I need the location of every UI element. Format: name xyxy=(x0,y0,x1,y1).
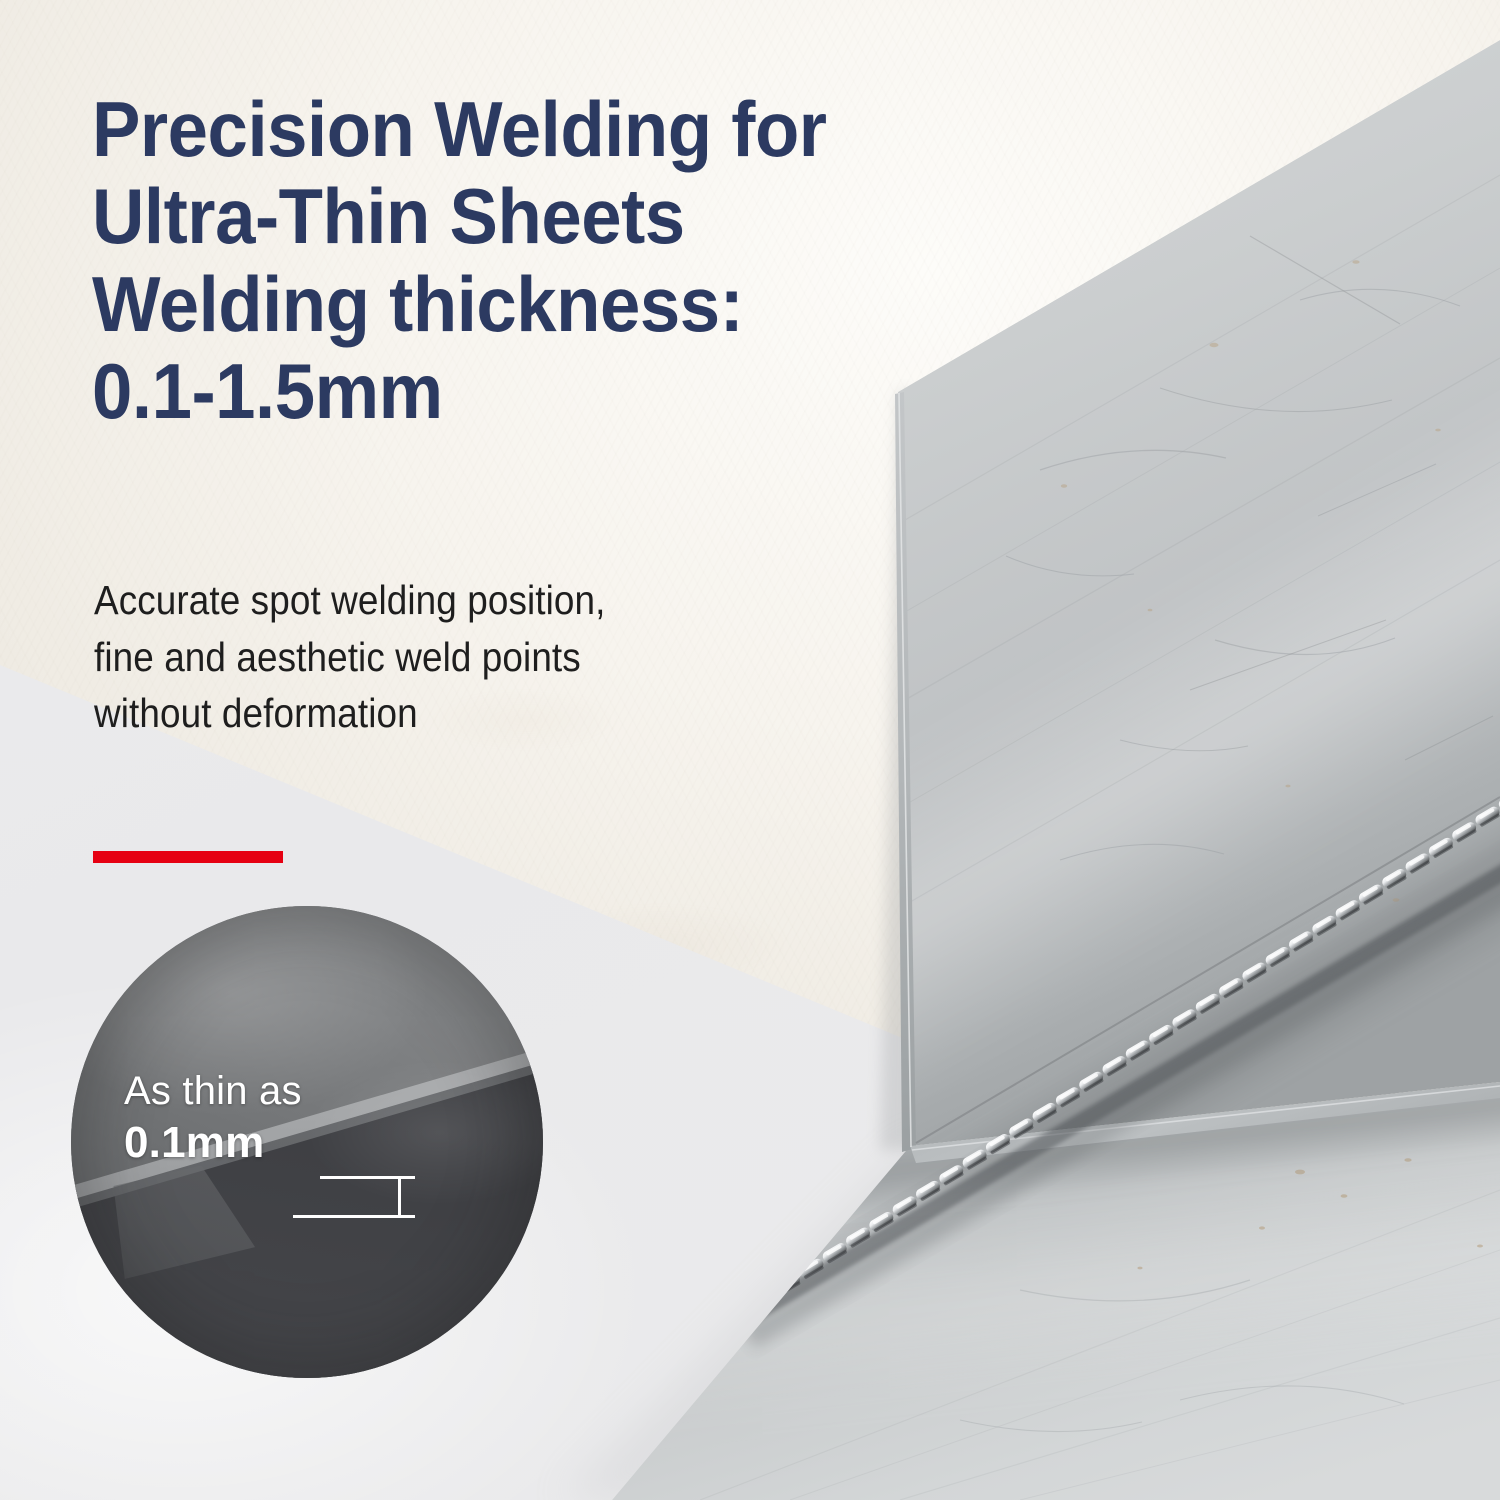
inset-label-group: As thin as 0.1mm xyxy=(124,1069,302,1167)
red-accent-rule xyxy=(93,851,283,863)
inset-label-line2: 0.1mm xyxy=(124,1118,302,1167)
inset-label-line1: As thin as xyxy=(124,1069,302,1114)
banner-canvas: Precision Welding for Ultra-Thin Sheets … xyxy=(0,0,1500,1500)
thickness-inset-callout: As thin as 0.1mm xyxy=(71,906,543,1378)
description-text: Accurate spot welding position, fine and… xyxy=(94,572,670,742)
page-title: Precision Welding for Ultra-Thin Sheets … xyxy=(92,86,985,435)
thickness-bracket-connector xyxy=(398,1176,401,1218)
thickness-bracket-bottom-line xyxy=(293,1215,415,1218)
